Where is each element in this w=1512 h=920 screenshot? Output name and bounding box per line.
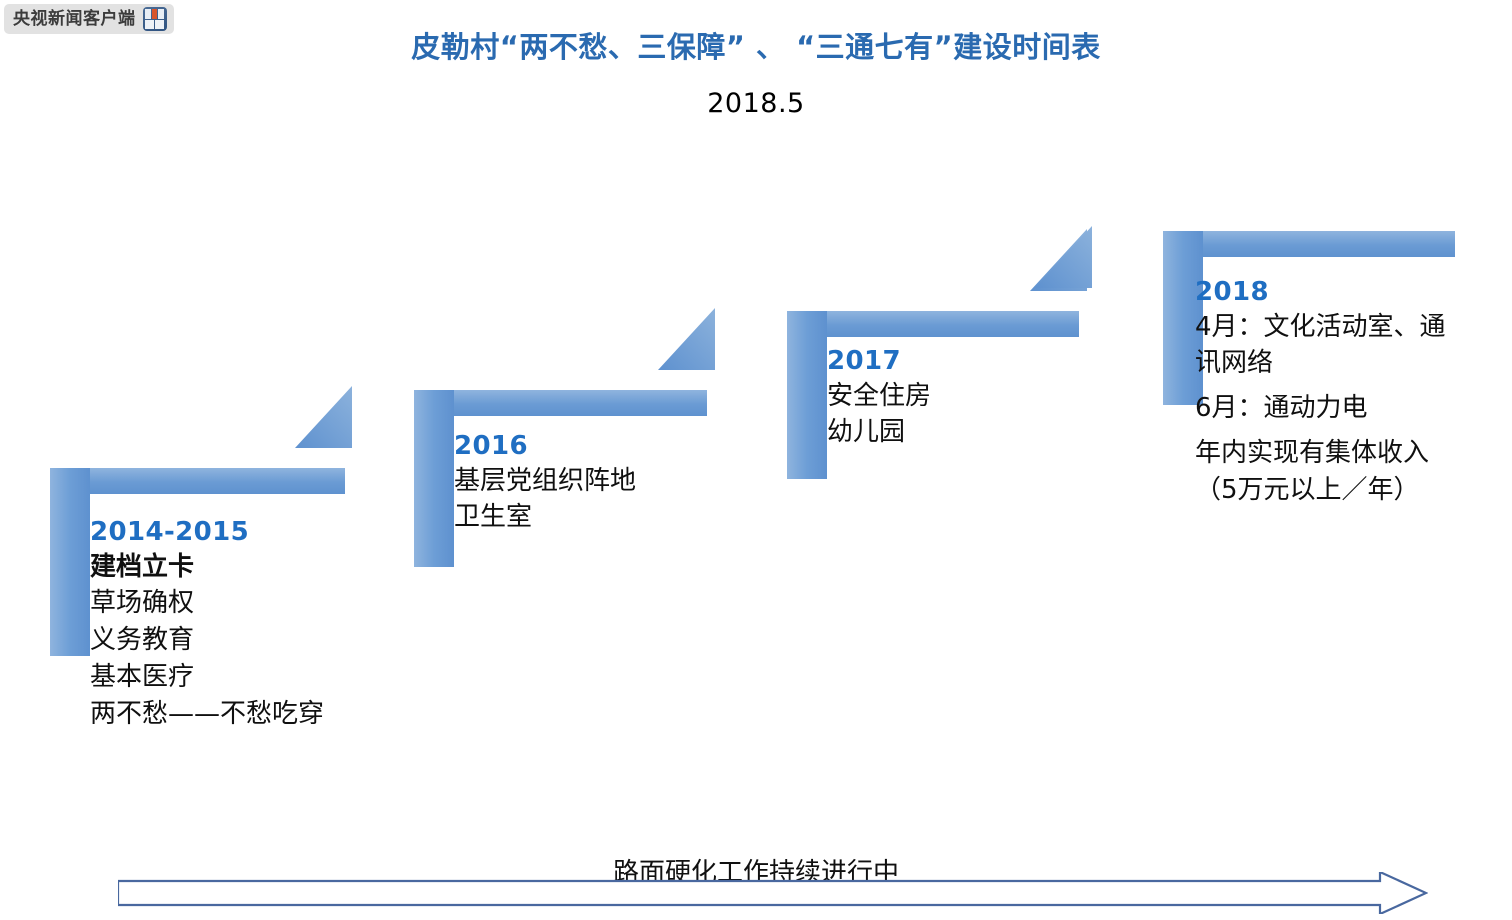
milestone-line: 6月：通动力电	[1195, 390, 1465, 427]
milestone-year: 2018	[1195, 276, 1465, 309]
page-subtitle: 2018.5	[0, 88, 1512, 119]
slide-canvas: 央视新闻客户端 皮勒村“两不愁、三保障” 、 “三通七有”建设时间表 2018.…	[0, 0, 1512, 920]
page-title: 皮勒村“两不愁、三保障” 、 “三通七有”建设时间表	[0, 24, 1512, 66]
milestone-line: 幼儿园	[827, 414, 1117, 451]
milestone-line: 建档立卡	[90, 549, 420, 586]
step-triangle-icon	[295, 386, 352, 448]
bracket-left-arm	[787, 311, 827, 479]
logo-top-glyphs	[145, 9, 165, 19]
progress-arrow	[118, 872, 1428, 918]
milestone-content: 2014-2015 建档立卡 草场确权 义务教育 基本医疗 两不愁——不愁吃穿	[90, 516, 420, 733]
step-triangle-icon	[658, 308, 715, 370]
right-arrow-icon	[118, 872, 1428, 914]
milestone-line: 基层党组织阵地	[454, 463, 754, 500]
milestone-line: 基本医疗	[90, 659, 420, 696]
bracket-left-arm	[50, 468, 90, 656]
milestone-content: 2016 基层党组织阵地 卫生室	[454, 430, 754, 536]
bracket-top-arm	[414, 390, 707, 416]
milestone-year: 2014-2015	[90, 516, 420, 549]
milestone-line: 两不愁——不愁吃穿	[90, 696, 420, 733]
milestone-content: 2017 安全住房 幼儿园	[827, 345, 1117, 451]
milestone-line: 安全住房	[827, 378, 1117, 415]
milestone-line: 义务教育	[90, 622, 420, 659]
milestone-line: 卫生室	[454, 499, 754, 536]
milestone-year: 2016	[454, 430, 754, 463]
milestone-content: 2018 4月：文化活动室、通讯网络 6月：通动力电 年内实现有集体收入（5万元…	[1195, 276, 1465, 509]
milestone-line: 草场确权	[90, 585, 420, 622]
milestone-line: 4月：文化活动室、通讯网络	[1195, 309, 1465, 383]
bracket-top-arm	[50, 468, 345, 494]
bracket-left-arm	[414, 390, 454, 567]
milestone-year: 2017	[827, 345, 1117, 378]
milestone-line: 年内实现有集体收入（5万元以上／年）	[1195, 435, 1465, 509]
step-triangle-icon	[1035, 226, 1092, 288]
bracket-top-arm	[1163, 231, 1455, 257]
bracket-top-arm	[787, 311, 1079, 337]
